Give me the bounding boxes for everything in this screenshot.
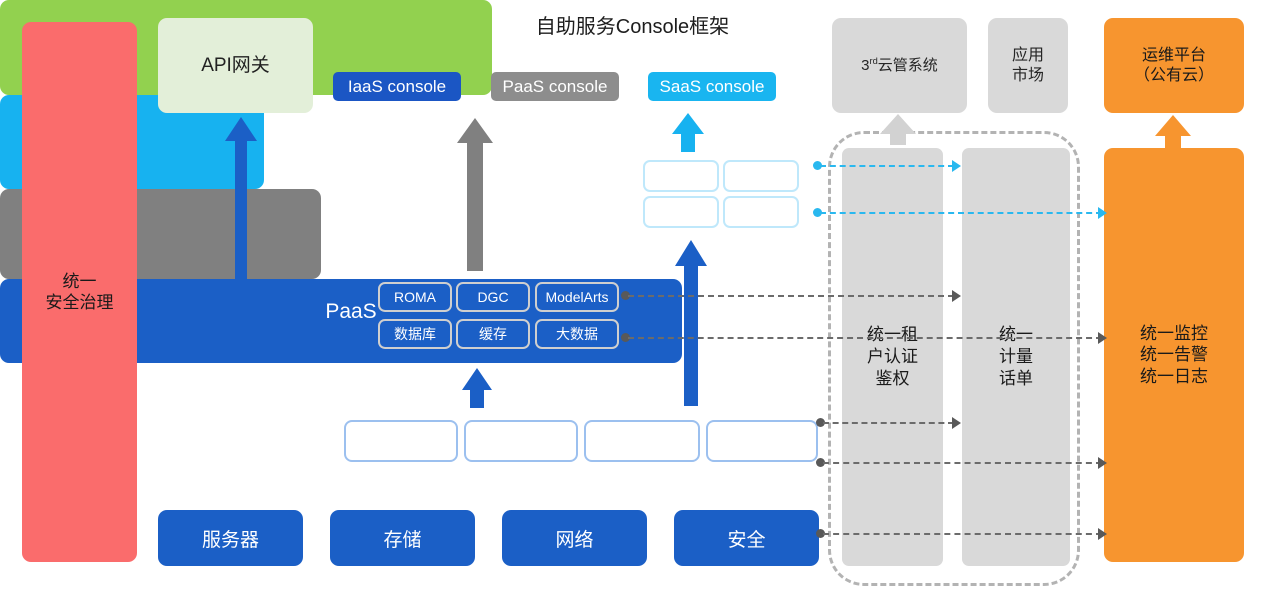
connector-saas-to-monitor	[820, 212, 1102, 214]
app-market-box: 应用 市场	[988, 18, 1068, 113]
hardware-item-storage[interactable]: 存储	[330, 510, 475, 566]
iaas-console-chip[interactable]: IaaS console	[333, 72, 461, 101]
arrow-infra-to-api-gateway	[224, 115, 258, 295]
hardware-item-network[interactable]: 网络	[502, 510, 647, 566]
arrowhead-icon	[1098, 528, 1107, 540]
arrowhead-icon	[1098, 457, 1107, 469]
arrow-infra-to-paas	[460, 366, 494, 408]
saas-item-iot[interactable]: IoT	[723, 160, 799, 192]
connector-saas-to-auth	[820, 165, 954, 167]
arrowhead-icon	[1098, 332, 1107, 344]
paas-console-chip[interactable]: PaaS console	[491, 72, 619, 101]
arrow-saas-to-console	[670, 112, 706, 152]
saas-console-chip[interactable]: SaaS console	[648, 72, 776, 101]
arrow-up-to-third-party	[878, 113, 918, 145]
arrowhead-icon	[952, 290, 961, 302]
saas-item-video-cloud[interactable]: 视频云	[643, 196, 719, 228]
paas-item-database[interactable]: 数据库	[378, 319, 452, 349]
arrow-paas-to-console	[455, 116, 495, 271]
paas-item-roma[interactable]: ROMA	[378, 282, 452, 312]
architecture-diagram: 统一 安全治理 API网关 自助服务Console框架 IaaS console…	[0, 0, 1265, 605]
unified-tenant-auth-column: 统一租 户认证 鉴权	[842, 148, 943, 566]
arrowhead-icon	[952, 160, 961, 172]
saas-label: SaaS	[565, 178, 640, 201]
connector-paas-to-auth	[628, 295, 954, 297]
infrastructure-label: 统一基础设施服务	[168, 429, 320, 456]
third-party-cloud-mgmt-box: 3rd云管系统	[832, 18, 967, 113]
connector-infra-to-auth	[823, 422, 954, 424]
infra-item-cce[interactable]: CCE	[706, 420, 818, 462]
connector-infra-to-monitor	[823, 462, 1102, 464]
arrow-monitor-to-ops-platform	[1153, 114, 1193, 150]
third-party-label: 3rd云管系统	[861, 56, 938, 76]
hardware-item-server[interactable]: 服务器	[158, 510, 303, 566]
arrowhead-icon	[952, 417, 961, 429]
unified-metering-column: 统一 计量 话单	[962, 148, 1070, 566]
ops-platform-box: 运维平台 （公有云）	[1104, 18, 1244, 113]
paas-item-bigdata[interactable]: 大数据	[535, 319, 619, 349]
saas-item-desktop-cloud[interactable]: 桌面云	[723, 196, 799, 228]
console-frame-title: 自助服务Console框架	[0, 10, 1265, 39]
infra-item-compute[interactable]: Compute	[344, 420, 458, 462]
hardware-item-security[interactable]: 安全	[674, 510, 819, 566]
paas-item-dgc[interactable]: DGC	[456, 282, 530, 312]
infra-item-storage[interactable]: Storage	[464, 420, 578, 462]
paas-item-modelarts[interactable]: ModelArts	[535, 282, 619, 312]
unified-monitoring-panel: 统一监控 统一告警 统一日志	[1104, 148, 1244, 562]
paas-item-cache[interactable]: 缓存	[456, 319, 530, 349]
infra-item-network[interactable]: Network	[584, 420, 700, 462]
security-governance-panel: 统一 安全治理	[22, 22, 137, 562]
connector-hardware-to-monitor	[823, 533, 1102, 535]
saas-item-blockchain[interactable]: 区块链	[643, 160, 719, 192]
connector-paas-to-monitor	[628, 337, 1102, 339]
arrowhead-icon	[1098, 207, 1107, 219]
arrow-infra-to-saas	[673, 238, 709, 406]
